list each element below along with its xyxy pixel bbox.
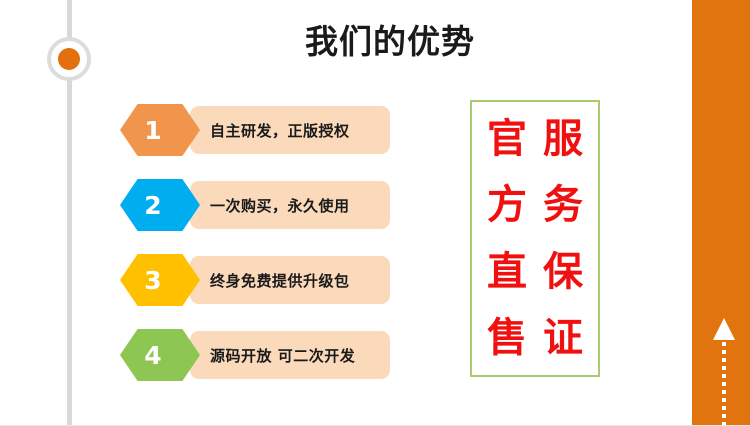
guarantee-char-4-right: 证	[535, 318, 591, 358]
orange-side-band	[692, 0, 750, 426]
guarantee-char-4-left: 售	[479, 318, 535, 358]
arrow-up-icon	[713, 318, 735, 340]
guarantee-row-3: 直 保	[472, 252, 598, 292]
guarantee-char-2-left: 方	[479, 185, 535, 225]
guarantee-row-2: 方 务	[472, 185, 598, 225]
guarantee-row-1: 官 服	[472, 119, 598, 159]
slide-canvas: 我们的优势 1 自主研发，正版授权 2 一次购买，永久使用 3 终身免费提供升级…	[0, 0, 750, 426]
advantage-label-4: 源码开放 可二次开发	[210, 329, 355, 381]
timeline-node-dot	[58, 48, 80, 70]
guarantee-char-2-right: 务	[535, 185, 591, 225]
advantage-label-3: 终身免费提供升级包	[210, 254, 350, 306]
arrow-dotted-stem-icon	[722, 342, 726, 426]
guarantee-row-4: 售 证	[472, 318, 598, 358]
advantage-number-4: 4	[120, 329, 186, 381]
guarantee-box: 官 服 方 务 直 保 售 证	[470, 100, 600, 377]
guarantee-char-1-right: 服	[535, 119, 591, 159]
guarantee-char-3-right: 保	[535, 252, 591, 292]
page-title: 我们的优势	[250, 22, 530, 62]
advantage-label-1: 自主研发，正版授权	[210, 104, 350, 156]
advantage-number-3: 3	[120, 254, 186, 306]
advantage-number-1: 1	[120, 104, 186, 156]
guarantee-char-1-left: 官	[479, 119, 535, 159]
advantage-number-2: 2	[120, 179, 186, 231]
advantage-label-2: 一次购买，永久使用	[210, 179, 350, 231]
guarantee-char-3-left: 直	[479, 252, 535, 292]
